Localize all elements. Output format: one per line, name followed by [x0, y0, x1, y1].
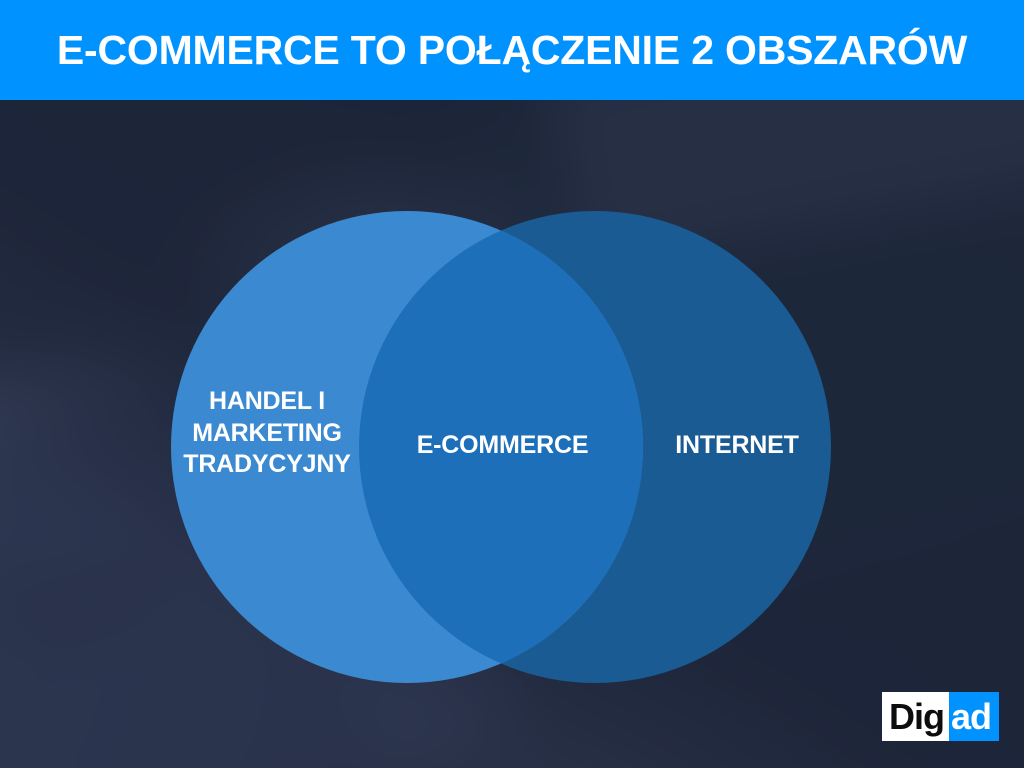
page-title: E-COMMERCE TO POŁĄCZENIE 2 OBSZARÓW — [0, 0, 1024, 100]
header-bar: E-COMMERCE TO POŁĄCZENIE 2 OBSZARÓW — [0, 0, 1024, 100]
venn-diagram: HANDEL I MARKETING TRADYCYJNY E-COMMERCE… — [0, 0, 1024, 768]
brand-logo[interactable]: Dig ad — [882, 692, 998, 741]
logo-text-dig: Dig — [882, 692, 949, 741]
venn-label-intersection: E-COMMERCE — [362, 430, 643, 462]
slide: HANDEL I MARKETING TRADYCYJNY E-COMMERCE… — [0, 0, 1024, 768]
venn-label-right: INTERNET — [643, 430, 831, 462]
logo-text-ad: ad — [949, 692, 999, 741]
venn-svg — [0, 0, 1024, 768]
venn-label-left: HANDEL I MARKETING TRADYCYJNY — [172, 386, 362, 481]
